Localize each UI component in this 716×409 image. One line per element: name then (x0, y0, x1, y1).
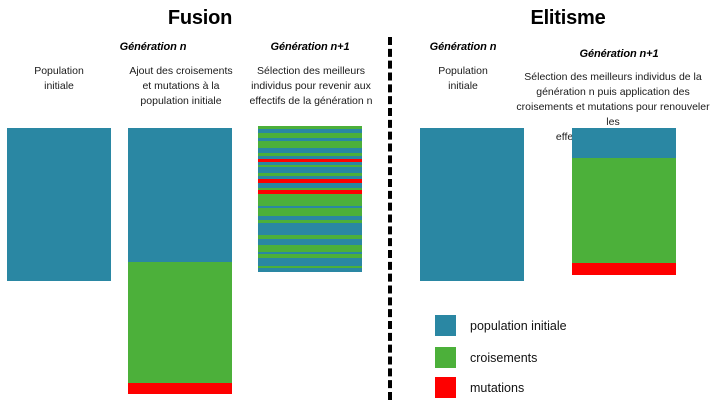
legend-item-croisements: croisements (435, 347, 537, 368)
bar-stripe-croisements (258, 208, 362, 216)
fusion-gen-header-n-plus-1: Génération n+1 (240, 41, 380, 53)
bar-stripe-population-initiale (258, 258, 362, 266)
legend-label-croisements: croisements (470, 351, 537, 365)
bar-segment-mutations (572, 263, 676, 275)
bar-stripe-population-initiale (258, 223, 362, 235)
bar-stripe-population-initiale (258, 268, 362, 271)
bar-segment-croisements (572, 158, 676, 263)
elitisme-caption-population-initiale: Population initiale (408, 64, 518, 94)
bar-segment-population-initiale (128, 128, 232, 262)
fusion-gen-header-n: Génération n (58, 41, 248, 53)
bar-fusion-ajout-croisements-mutations (128, 128, 232, 394)
bar-stripe-croisements (258, 194, 362, 206)
legend-label-population-initiale: population initiale (470, 319, 567, 333)
fusion-caption-ajout-croisements: Ajout des croisements et mutations à la … (120, 64, 242, 109)
legend-swatch-population-initiale (435, 315, 456, 336)
bar-segment-population-initiale (7, 128, 111, 281)
bar-elitisme-population-initiale (420, 128, 524, 281)
fusion-caption-selection-meilleurs: Sélection des meilleurs individus pour r… (240, 64, 382, 109)
legend-swatch-mutations (435, 377, 456, 398)
bar-stripe-croisements (258, 141, 362, 149)
bar-fusion-population-initiale (7, 128, 111, 281)
bar-stripe-croisements (258, 245, 362, 252)
bar-segment-croisements (128, 262, 232, 383)
legend-label-mutations: mutations (470, 381, 524, 395)
elitisme-gen-header-n: Génération n (398, 41, 528, 53)
elitisme-gen-header-n-plus-1: Génération n+1 (528, 48, 710, 60)
bar-segment-mutations (128, 383, 232, 394)
bar-segment-population-initiale (420, 128, 524, 281)
fusion-caption-population-initiale: Population initiale (6, 64, 112, 94)
bar-elitisme-selection-croisements-mutations (572, 128, 676, 275)
section-title-elitisme: Elitisme (478, 7, 658, 30)
section-divider (388, 37, 392, 400)
section-title-fusion: Fusion (110, 7, 290, 30)
legend-swatch-croisements (435, 347, 456, 368)
legend-item-mutations: mutations (435, 377, 524, 398)
legend-item-population-initiale: population initiale (435, 315, 567, 336)
bar-segment-population-initiale (572, 128, 676, 158)
diagram-canvas: Fusion Elitisme Génération n Génération … (0, 0, 716, 409)
bar-fusion-selection-meilleurs (258, 126, 362, 272)
